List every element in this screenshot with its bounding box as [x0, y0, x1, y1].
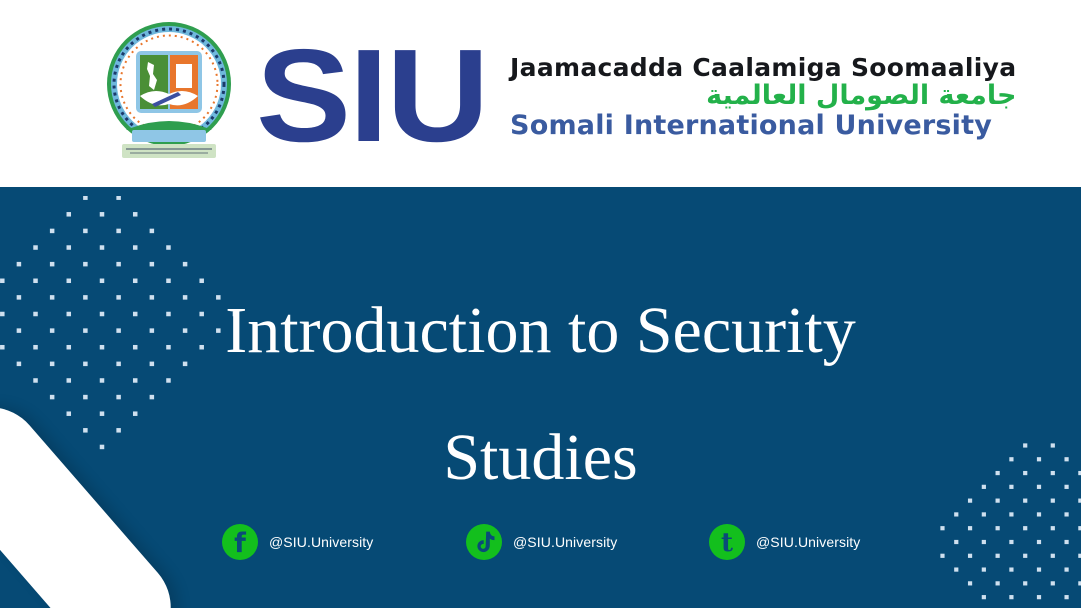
facebook-icon[interactable]: f — [222, 524, 258, 560]
university-name-arabic: جامعة الصومال العالمية — [510, 81, 1016, 111]
facebook-glyph: f — [234, 530, 246, 557]
siu-crest-emblem — [96, 18, 242, 170]
social-media-bar: f @SIU.University @SIU.University t @SIU… — [0, 519, 1081, 565]
tiktok-note-glyph — [474, 531, 495, 554]
siu-wordmark: SIU — [256, 30, 487, 162]
tumblr-glyph: t — [721, 530, 733, 556]
slide-title: Introduction to Security Studies — [0, 268, 1081, 521]
slide-header-band: SIU Jaamacadda Caalamiga Soomaaliya جامع… — [0, 0, 1081, 187]
facebook-handle: @SIU.University — [269, 534, 373, 550]
university-name-english: Somali International University — [510, 111, 1016, 140]
social-item-facebook[interactable]: f @SIU.University — [222, 519, 373, 565]
university-name-somali: Jaamacadda Caalamiga Soomaaliya — [510, 54, 1016, 81]
tumblr-icon[interactable]: t — [709, 524, 745, 560]
social-item-tiktok[interactable]: @SIU.University — [466, 519, 617, 565]
tumblr-handle: @SIU.University — [756, 534, 860, 550]
tiktok-handle: @SIU.University — [513, 534, 617, 550]
slide-title-line-1: Introduction to Security — [0, 268, 1081, 395]
social-item-tumblr[interactable]: t @SIU.University — [709, 519, 860, 565]
university-name-block: Jaamacadda Caalamiga Soomaaliya جامعة ال… — [510, 54, 1016, 140]
tiktok-icon[interactable] — [466, 524, 502, 560]
slide-title-line-2: Studies — [0, 395, 1081, 522]
university-logo-lockup: SIU Jaamacadda Caalamiga Soomaaliya جامع… — [96, 14, 1016, 174]
presentation-slide: SIU Jaamacadda Caalamiga Soomaaliya جامع… — [0, 0, 1081, 608]
